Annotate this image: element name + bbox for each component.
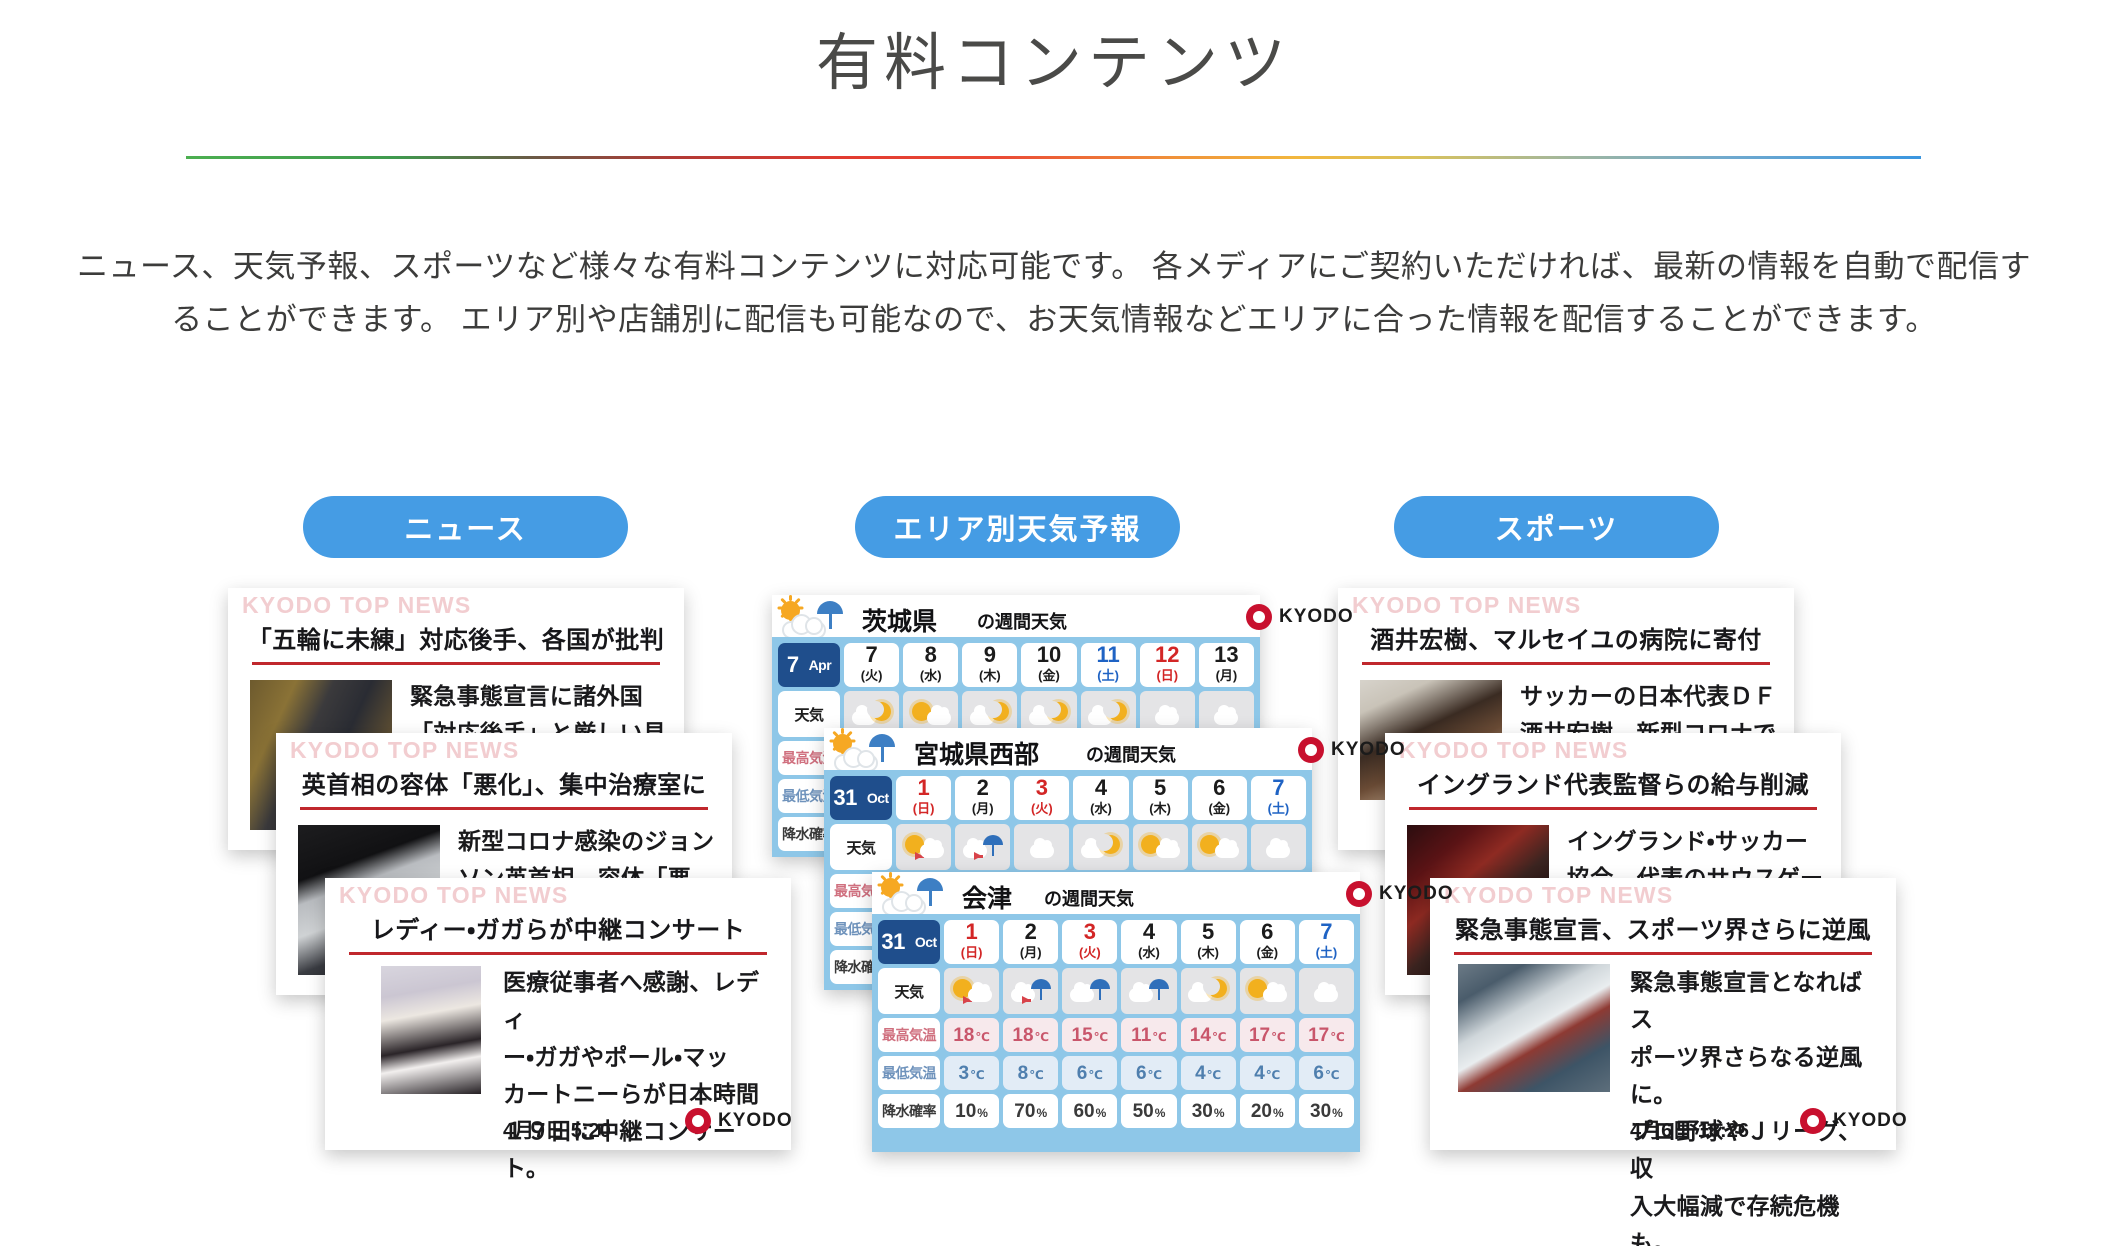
day-number: 6	[1213, 777, 1225, 799]
cell-date: 2(月)	[1003, 920, 1058, 964]
cell-high-temp: 18℃	[1003, 1018, 1058, 1052]
cell-low-temp: 4℃	[1181, 1056, 1236, 1090]
day-number: 5	[1202, 921, 1214, 943]
card-body: 医療従事者へ感謝、レディー・ガガやポール・マッカートニーらが日本時間１９日に中継…	[503, 964, 775, 1188]
card-timestamp: 4月6日 18:26	[1630, 1114, 1749, 1143]
cell-precip: 50%	[1121, 1094, 1176, 1128]
sun-cloud-icon	[1198, 832, 1240, 862]
kyodo-mark-icon	[1246, 604, 1272, 630]
kyodo-logo: KYODO	[685, 1108, 793, 1134]
cell-low-temp: 6℃	[1062, 1056, 1117, 1090]
badge-day: 7	[787, 652, 799, 678]
day-number: 7	[865, 644, 877, 666]
cell-weather-icon	[1192, 824, 1247, 870]
news-card[interactable]: KYODO TOP NEWSレディー・ガガらが中継コンサート医療従事者へ感謝、レ…	[325, 878, 791, 1150]
weather-card-header: 会津の週間天気KYODO	[872, 872, 1360, 914]
cell-high-temp: 17℃	[1240, 1018, 1295, 1052]
temp-unit: ℃	[975, 1030, 990, 1044]
cell-high-temp: 17℃	[1299, 1018, 1354, 1052]
cell-date: 12(日)	[1140, 643, 1195, 687]
temp-unit: ℃	[1035, 1030, 1050, 1044]
day-number: 8	[925, 644, 937, 666]
weather-day-column[interactable]: 1(日)18℃3℃10%	[944, 920, 999, 1146]
day-weekday: (水)	[1090, 799, 1112, 819]
cell-precip: 60%	[1062, 1094, 1117, 1128]
day-number: 7	[1320, 921, 1332, 943]
cloud-moon-icon	[1028, 699, 1070, 729]
cell-date: 1(日)	[896, 776, 951, 820]
cell-weather-icon	[1181, 968, 1236, 1014]
cell-date: 5(木)	[1181, 920, 1236, 964]
cloud-moon-icon	[1187, 976, 1229, 1006]
cell-date: 7(土)	[1251, 776, 1306, 820]
day-number: 2	[1025, 921, 1037, 943]
low-temp-value: 6	[1136, 1063, 1147, 1084]
day-weekday: (金)	[1256, 943, 1278, 963]
card-headline: 緊急事態宣言、スポーツ界さらに逆風	[1430, 910, 1896, 945]
temp-unit: ℃	[1029, 1068, 1044, 1082]
cell-high-temp: 18℃	[944, 1018, 999, 1052]
cell-date: 4(水)	[1121, 920, 1176, 964]
cell-high-temp: 14℃	[1181, 1018, 1236, 1052]
temp-unit: ℃	[1330, 1030, 1345, 1044]
pill-news[interactable]: ニュース	[303, 496, 628, 558]
card-body-line: イングランド・サッカー	[1567, 823, 1827, 860]
kyodo-mark-icon	[1800, 1108, 1826, 1134]
card-banner: KYODO TOP NEWS	[242, 592, 471, 619]
temp-unit: ℃	[1152, 1030, 1167, 1044]
weather-day-column[interactable]: 6(金)17℃4℃20%	[1240, 920, 1295, 1146]
cell-low-temp: 6℃	[1121, 1056, 1176, 1090]
cloud-moon-icon	[1087, 699, 1129, 729]
cell-high-temp: 15℃	[1062, 1018, 1117, 1052]
card-banner: KYODO TOP NEWS	[1399, 737, 1628, 764]
sun-cloud-icon	[1246, 976, 1288, 1006]
card-banner: KYODO TOP NEWS	[290, 737, 519, 764]
kyodo-wordmark: KYODO	[718, 1110, 793, 1132]
cell-date: 3(火)	[1062, 920, 1117, 964]
cloud-umbrella-icon	[1069, 976, 1111, 1006]
headline-rule	[349, 952, 767, 955]
cell-weather-icon	[1073, 824, 1128, 870]
weather-region: 宮城県西部	[914, 735, 1039, 771]
low-temp-value: 6	[1077, 1063, 1088, 1084]
pill-weather[interactable]: エリア別天気予報	[855, 496, 1180, 558]
temp-unit: ℃	[970, 1068, 985, 1082]
cell-weather-icon	[896, 824, 951, 870]
headline-rule	[1454, 952, 1872, 955]
cell-date: 1(日)	[944, 920, 999, 964]
day-weekday: (月)	[1216, 666, 1238, 686]
precip-value: 50	[1133, 1101, 1154, 1122]
cell-date: 9(木)	[962, 643, 1017, 687]
temp-unit: ℃	[1212, 1030, 1227, 1044]
cloud-moon-icon	[969, 699, 1011, 729]
cell-date: 4(水)	[1073, 776, 1128, 820]
card-body-line: 緊急事態宣言となればス	[1630, 964, 1884, 1039]
headline-rule	[1409, 807, 1817, 810]
low-temp-value: 3	[959, 1063, 970, 1084]
card-body-line: ポーツ界さらなる逆風に。	[1630, 1039, 1884, 1114]
weather-subtitle: の週間天気	[1044, 885, 1134, 911]
precip-value: 10	[955, 1101, 976, 1122]
pill-sports[interactable]: スポーツ	[1394, 496, 1719, 558]
slide-root: 有料コンテンツ ニュース、天気予報、スポーツなど様々な有料コンテンツに対応可能で…	[0, 0, 2108, 1246]
day-weekday: (水)	[1138, 943, 1160, 963]
kyodo-mark-icon	[1298, 737, 1324, 763]
temp-unit: ℃	[1148, 1068, 1163, 1082]
day-number: 12	[1155, 644, 1179, 666]
page-title: 有料コンテンツ	[0, 28, 2108, 99]
cloud-moon-icon	[851, 699, 893, 729]
low-temp-value: 4	[1195, 1063, 1206, 1084]
kyodo-logo: KYODO	[1298, 737, 1406, 763]
weather-date-badge: 31Oct	[878, 920, 940, 964]
cloud-arrow-umbrella-icon	[1010, 976, 1052, 1006]
weather-grid: 31Oct天気最高気温最低気温降水確率1(日)18℃3℃10%2(月)18℃8℃…	[878, 920, 1354, 1146]
card-banner: KYODO TOP NEWS	[1444, 882, 1673, 909]
low-temp-value: 4	[1254, 1063, 1265, 1084]
cell-weather-icon	[1299, 968, 1354, 1014]
day-weekday: (木)	[1149, 799, 1171, 819]
kyodo-wordmark: KYODO	[1331, 739, 1406, 761]
day-weekday: (日)	[961, 943, 983, 963]
day-number: 5	[1154, 777, 1166, 799]
day-number: 1	[965, 921, 977, 943]
day-weekday: (金)	[1208, 799, 1230, 819]
temp-unit: ℃	[1266, 1068, 1281, 1082]
day-number: 3	[1036, 777, 1048, 799]
weather-day-column[interactable]: 5(木)14℃4℃30%	[1181, 920, 1236, 1146]
cell-precip: 30%	[1181, 1094, 1236, 1128]
day-weekday: (水)	[920, 666, 942, 686]
high-temp-value: 15	[1072, 1025, 1093, 1046]
cell-weather-icon	[1003, 968, 1058, 1014]
cell-date: 2(月)	[955, 776, 1010, 820]
high-temp-value: 11	[1131, 1025, 1151, 1046]
low-temp-value: 8	[1018, 1063, 1029, 1084]
sports-card[interactable]: KYODO TOP NEWS緊急事態宣言、スポーツ界さらに逆風緊急事態宣言となれ…	[1430, 878, 1896, 1150]
day-weekday: (土)	[1097, 666, 1119, 686]
cell-date: 8(水)	[903, 643, 958, 687]
day-weekday: (金)	[1038, 666, 1060, 686]
day-weekday: (土)	[1316, 943, 1338, 963]
cell-date: 6(金)	[1240, 920, 1295, 964]
cell-high-temp: 11℃	[1121, 1018, 1176, 1052]
badge-month: Oct	[867, 790, 889, 806]
high-temp-value: 17	[1249, 1025, 1270, 1046]
cell-weather-icon	[1121, 968, 1176, 1014]
kyodo-mark-icon	[685, 1108, 711, 1134]
weather-row-labels: 31Oct天気最高気温最低気温降水確率	[878, 920, 940, 1146]
day-weekday: (月)	[972, 799, 994, 819]
weather-day-column[interactable]: 3(火)15℃6℃60%	[1062, 920, 1117, 1146]
badge-day: 31	[881, 929, 904, 955]
day-number: 7	[1272, 777, 1284, 799]
badge-day: 31	[833, 785, 856, 811]
weather-day-column[interactable]: 2(月)18℃8℃70%	[1003, 920, 1058, 1146]
weather-card-header: 宮城県西部の週間天気KYODO	[824, 728, 1312, 770]
precip-unit: %	[1332, 1106, 1343, 1120]
cloud-icon	[1257, 832, 1299, 862]
precip-value: 30	[1192, 1101, 1213, 1122]
kyodo-wordmark: KYODO	[1379, 883, 1454, 905]
cloud-moon-icon	[1080, 832, 1122, 862]
day-weekday: (火)	[1031, 799, 1053, 819]
cell-date: 6(金)	[1192, 776, 1247, 820]
weather-grid-frame: 31Oct天気最高気温最低気温降水確率1(日)18℃3℃10%2(月)18℃8℃…	[872, 914, 1360, 1152]
badge-month: Oct	[915, 934, 937, 950]
day-number: 4	[1095, 777, 1107, 799]
kyodo-mark-icon	[1346, 881, 1372, 907]
day-number: 4	[1143, 921, 1155, 943]
temp-unit: ℃	[1094, 1030, 1109, 1044]
weather-day-column[interactable]: 7(土)17℃6℃30%	[1299, 920, 1354, 1146]
day-number: 13	[1214, 644, 1238, 666]
day-number: 1	[917, 777, 929, 799]
temp-unit: ℃	[1325, 1068, 1340, 1082]
weather-day-column[interactable]: 4(水)11℃6℃50%	[1121, 920, 1176, 1146]
headline-rule	[252, 662, 660, 665]
cell-weather-icon	[1062, 968, 1117, 1014]
precip-unit: %	[977, 1106, 988, 1120]
card-body-line: 緊急事態宣言に諸外国	[410, 678, 670, 715]
precip-value: 60	[1073, 1101, 1094, 1122]
weather-subtitle: の週間天気	[977, 608, 1067, 634]
card-banner: KYODO TOP NEWS	[339, 882, 568, 909]
precip-value: 30	[1310, 1101, 1331, 1122]
cell-date: 10(金)	[1021, 643, 1076, 687]
temp-unit: ℃	[1271, 1030, 1286, 1044]
day-weekday: (火)	[1079, 943, 1101, 963]
card-body-line: 医療従事者へ感謝、レディ	[503, 964, 775, 1039]
cell-precip: 10%	[944, 1094, 999, 1128]
cell-low-temp: 6℃	[1299, 1056, 1354, 1090]
kyodo-logo: KYODO	[1246, 604, 1354, 630]
high-temp-value: 14	[1190, 1025, 1211, 1046]
card-body-line: 新型コロナ感染のジョン	[458, 823, 718, 860]
day-number: 3	[1084, 921, 1096, 943]
lead-line-2: ることができます。 エリア別や店舗別に配信も可能なので、お天気情報などエリアに合…	[40, 293, 2068, 346]
day-weekday: (日)	[1156, 666, 1178, 686]
weather-date-badge: 7Apr	[778, 643, 840, 687]
weather-date-badge: 31Oct	[830, 776, 892, 820]
day-weekday: (火)	[861, 666, 883, 686]
card-thumbnail	[1458, 964, 1610, 1092]
day-number: 10	[1037, 644, 1061, 666]
day-number: 11	[1097, 644, 1120, 666]
precip-value: 20	[1251, 1101, 1272, 1122]
low-temp-value: 6	[1313, 1063, 1324, 1084]
cell-date: 5(木)	[1133, 776, 1188, 820]
sun-arrow-cloud-icon	[903, 832, 945, 862]
row-label-weather: 天気	[830, 824, 892, 870]
gradient-divider	[186, 156, 1921, 159]
cell-low-temp: 8℃	[1003, 1056, 1058, 1090]
cell-low-temp: 4℃	[1240, 1056, 1295, 1090]
cell-date: 7(火)	[844, 643, 899, 687]
card-banner: KYODO TOP NEWS	[1352, 592, 1581, 619]
cell-weather-icon	[944, 968, 999, 1014]
day-weekday: (木)	[979, 666, 1001, 686]
row-label-high-temp: 最高気温	[878, 1018, 940, 1052]
day-weekday: (木)	[1197, 943, 1219, 963]
cloud-icon	[1305, 976, 1347, 1006]
cell-weather-icon	[1251, 824, 1306, 870]
badge-month: Apr	[809, 657, 832, 673]
row-label-weather: 天気	[878, 968, 940, 1014]
cloud-icon	[1021, 832, 1063, 862]
cell-date: 11(土)	[1081, 643, 1136, 687]
temp-unit: ℃	[1207, 1068, 1222, 1082]
cell-date: 13(月)	[1199, 643, 1254, 687]
kyodo-wordmark: KYODO	[1279, 606, 1354, 628]
lead-paragraph: ニュース、天気予報、スポーツなど様々な有料コンテンツに対応可能です。 各メディア…	[40, 240, 2068, 347]
kyodo-logo: KYODO	[1346, 881, 1454, 907]
lead-line-1: ニュース、天気予報、スポーツなど様々な有料コンテンツに対応可能です。 各メディア…	[40, 240, 2068, 293]
card-headline: 英首相の容体「悪化」、集中治療室に	[276, 765, 732, 800]
temp-unit: ℃	[1088, 1068, 1103, 1082]
card-body: 緊急事態宣言となればスポーツ界さらなる逆風に。プロ野球やＪリーグ、収入大幅減で存…	[1630, 964, 1884, 1246]
high-temp-value: 18	[953, 1025, 974, 1046]
day-number: 2	[977, 777, 989, 799]
cloud-icon	[1146, 699, 1188, 729]
weather-card-header: 茨城県の週間天気KYODO	[772, 595, 1260, 637]
weather-region: 会津	[962, 879, 1012, 915]
headline-rule	[300, 807, 708, 810]
card-thumbnail	[381, 966, 481, 1094]
sun-cloud-icon	[910, 699, 952, 729]
precip-unit: %	[1214, 1106, 1225, 1120]
cloud-umbrella-icon	[1128, 976, 1170, 1006]
card-body-line: 入大幅減で存続危機も。	[1630, 1188, 1884, 1246]
cell-precip: 70%	[1003, 1094, 1058, 1128]
cell-low-temp: 3℃	[944, 1056, 999, 1090]
kyodo-logo: KYODO	[1800, 1108, 1908, 1134]
day-number: 9	[984, 644, 996, 666]
day-weekday: (日)	[913, 799, 935, 819]
row-label-low-temp: 最低気温	[878, 1056, 940, 1090]
precip-unit: %	[1155, 1106, 1166, 1120]
cell-weather-icon	[955, 824, 1010, 870]
cell-weather-icon	[1014, 824, 1069, 870]
headline-rule	[1362, 662, 1770, 665]
precip-unit: %	[1036, 1106, 1047, 1120]
cloud-icon	[1205, 699, 1247, 729]
cell-date: 7(土)	[1299, 920, 1354, 964]
card-headline: 「五輪に未練」対応後手、各国が批判	[228, 620, 684, 655]
weather-region: 茨城県	[862, 602, 937, 638]
card-headline: 酒井宏樹、マルセイユの病院に寄付	[1338, 620, 1794, 655]
cell-weather-icon	[1240, 968, 1295, 1014]
cloud-arrow-umbrella-icon	[962, 832, 1004, 862]
weather-card[interactable]: 会津の週間天気KYODO31Oct天気最高気温最低気温降水確率1(日)18℃3℃…	[872, 872, 1360, 1152]
cell-precip: 20%	[1240, 1094, 1295, 1128]
day-weekday: (月)	[1020, 943, 1042, 963]
card-headline: レディー・ガガらが中継コンサート	[325, 910, 791, 945]
row-label-precip: 降水確率	[878, 1094, 940, 1128]
cell-date: 3(火)	[1014, 776, 1069, 820]
precip-unit: %	[1096, 1106, 1107, 1120]
card-body-line: サッカーの日本代表ＤＦ	[1520, 678, 1780, 715]
weather-subtitle: の週間天気	[1086, 741, 1176, 767]
sun-arrow-cloud-icon	[951, 976, 993, 1006]
card-headline: イングランド代表監督らの給与削減	[1385, 765, 1841, 800]
precip-unit: %	[1273, 1106, 1284, 1120]
day-number: 6	[1261, 921, 1273, 943]
card-timestamp: 4月7日 5:20	[503, 1114, 611, 1143]
cell-weather-icon	[1133, 824, 1188, 870]
precip-value: 70	[1014, 1101, 1035, 1122]
cell-precip: 30%	[1299, 1094, 1354, 1128]
high-temp-value: 18	[1012, 1025, 1033, 1046]
high-temp-value: 17	[1308, 1025, 1329, 1046]
day-weekday: (土)	[1268, 799, 1290, 819]
card-body-line: ー・ガガやポール・マッ	[503, 1039, 775, 1076]
sun-cloud-icon	[1139, 832, 1181, 862]
kyodo-wordmark: KYODO	[1833, 1110, 1908, 1132]
